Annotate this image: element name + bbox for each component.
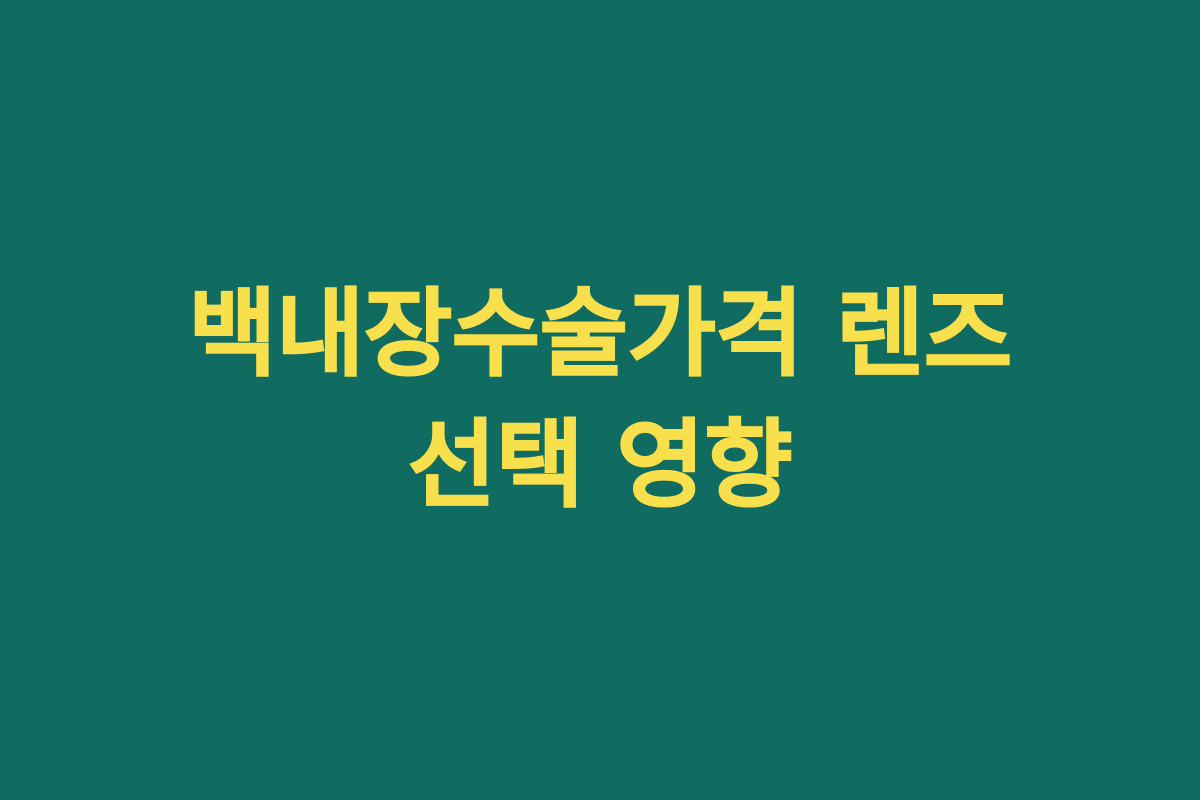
banner-canvas: 백내장수술가격 렌즈 선택 영향 [0,0,1200,800]
page-title: 백내장수술가격 렌즈 선택 영향 [95,269,1105,530]
